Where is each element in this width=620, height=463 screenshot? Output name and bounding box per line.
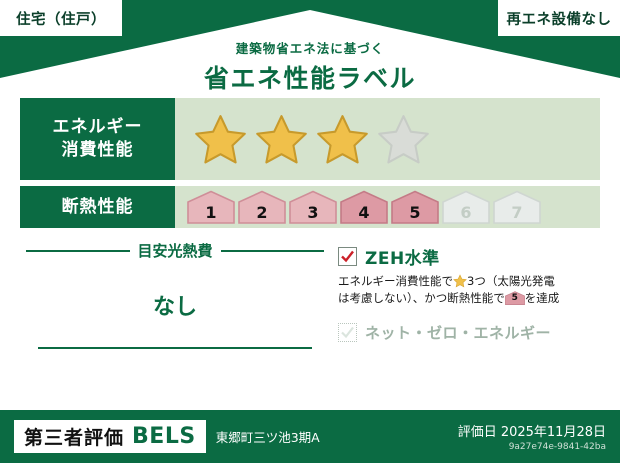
energy-performance-label-line1: エネルギー xyxy=(53,116,143,139)
insulation-performance-value: 1234567 xyxy=(175,186,600,228)
tag-renewable-energy-label: 再エネ設備なし xyxy=(507,8,612,29)
evaluation-date: 評価日 2025年11月28日 xyxy=(458,421,606,440)
zeh-desc-part3: は考慮しない）、かつ断熱性能で xyxy=(338,291,505,305)
insulation-level-badge: 4 xyxy=(340,190,388,224)
mini-star-icon xyxy=(453,274,467,288)
insulation-level-badge: 3 xyxy=(289,190,337,224)
insulation-level-value: 6 xyxy=(460,205,471,221)
insulation-level-value: 2 xyxy=(256,205,267,221)
insulation-level-value: 1 xyxy=(205,205,216,221)
utility-cost-heading: 目安光熱費 xyxy=(20,240,330,261)
zeh-description: エネルギー消費性能で3つ（太陽光発電 は考慮しない）、かつ断熱性能で5を達成 xyxy=(338,273,600,308)
energy-performance-label: エネルギー 消費性能 xyxy=(20,98,175,180)
star-filled-icon xyxy=(315,112,370,167)
utility-cost-value: なし xyxy=(20,261,330,347)
tag-renewable-energy: 再エネ設備なし xyxy=(498,0,620,36)
rule-left xyxy=(26,250,130,252)
bels-badge: 第三者評価 BELS xyxy=(14,420,206,453)
insulation-performance-label: 断熱性能 xyxy=(20,186,175,228)
net-zero-energy-label: ネット・ゼロ・エネルギー xyxy=(365,322,551,343)
tag-building-type-label: 住宅（住戸） xyxy=(16,8,106,29)
evaluation-info: 評価日 2025年11月28日 9a27e74e-9841-42ba xyxy=(458,421,606,452)
label-content: エネルギー 消費性能 断熱性能 1234567 目安光熱費 xyxy=(20,98,600,349)
bels-logo-text: BELS xyxy=(132,424,196,449)
bels-energy-label: 住宅（住戸） 再エネ設備なし 建築物省エネ法に基づく 省エネ性能ラベル エネルギ… xyxy=(0,0,620,463)
net-zero-energy-row: ネット・ゼロ・エネルギー xyxy=(338,322,600,343)
insulation-level-value: 4 xyxy=(358,205,369,221)
star-filled-icon xyxy=(254,112,309,167)
zeh-panel: ZEH水準 エネルギー消費性能で3つ（太陽光発電 は考慮しない）、かつ断熱性能で… xyxy=(330,234,600,349)
zeh-header: ZEH水準 xyxy=(338,244,600,269)
zeh-desc-part4: を達成 xyxy=(525,291,560,305)
insulation-level-value: 5 xyxy=(409,205,420,221)
third-party-eval-label: 第三者評価 xyxy=(24,423,124,450)
page-title: 建築物省エネ法に基づく 省エネ性能ラベル xyxy=(0,38,620,95)
insulation-level-value: 3 xyxy=(307,205,318,221)
energy-performance-label-line2: 消費性能 xyxy=(62,139,134,162)
zeh-title: ZEH水準 xyxy=(365,244,440,269)
label-footer: 第三者評価 BELS 東郷町三ツ池3期A 評価日 2025年11月28日 9a2… xyxy=(0,410,620,463)
mini-insulation-badge: 5 xyxy=(505,291,525,306)
zeh-desc-part2: 3つ（太陽光発電 xyxy=(467,274,555,288)
insulation-performance-label-text: 断熱性能 xyxy=(62,196,134,219)
check-icon xyxy=(340,249,355,264)
star-filled-icon xyxy=(193,112,248,167)
title-main: 省エネ性能ラベル xyxy=(0,59,620,95)
energy-performance-value xyxy=(175,98,600,180)
insulation-level-badges: 1234567 xyxy=(187,190,541,224)
check-icon-faded xyxy=(340,325,355,340)
insulation-performance-row: 断熱性能 1234567 xyxy=(20,186,600,228)
star-rating xyxy=(193,112,431,167)
insulation-level-badge: 7 xyxy=(493,190,541,224)
rule-right xyxy=(221,250,325,252)
insulation-level-value: 7 xyxy=(511,205,522,221)
title-subtitle: 建築物省エネ法に基づく xyxy=(0,38,620,57)
utility-cost-bottom-rule xyxy=(38,347,312,349)
insulation-level-badge: 6 xyxy=(442,190,490,224)
lower-section: 目安光熱費 なし ZEH水準 エネルギー消費性能で3つ（太陽光発電 xyxy=(20,234,600,349)
utility-cost-panel: 目安光熱費 なし xyxy=(20,234,330,349)
tag-building-type: 住宅（住戸） xyxy=(0,0,122,36)
energy-performance-row: エネルギー 消費性能 xyxy=(20,98,600,180)
insulation-level-badge: 5 xyxy=(391,190,439,224)
net-zero-energy-checkbox xyxy=(338,323,357,342)
zeh-desc-part1: エネルギー消費性能で xyxy=(338,274,453,288)
evaluation-id: 9a27e74e-9841-42ba xyxy=(458,442,606,452)
mini-badge-value: 5 xyxy=(505,291,525,306)
insulation-level-badge: 2 xyxy=(238,190,286,224)
zeh-checkbox xyxy=(338,247,357,266)
utility-cost-heading-text: 目安光熱費 xyxy=(138,240,213,261)
insulation-level-badge: 1 xyxy=(187,190,235,224)
site-name: 東郷町三ツ池3期A xyxy=(216,427,320,446)
star-empty-icon xyxy=(376,112,431,167)
